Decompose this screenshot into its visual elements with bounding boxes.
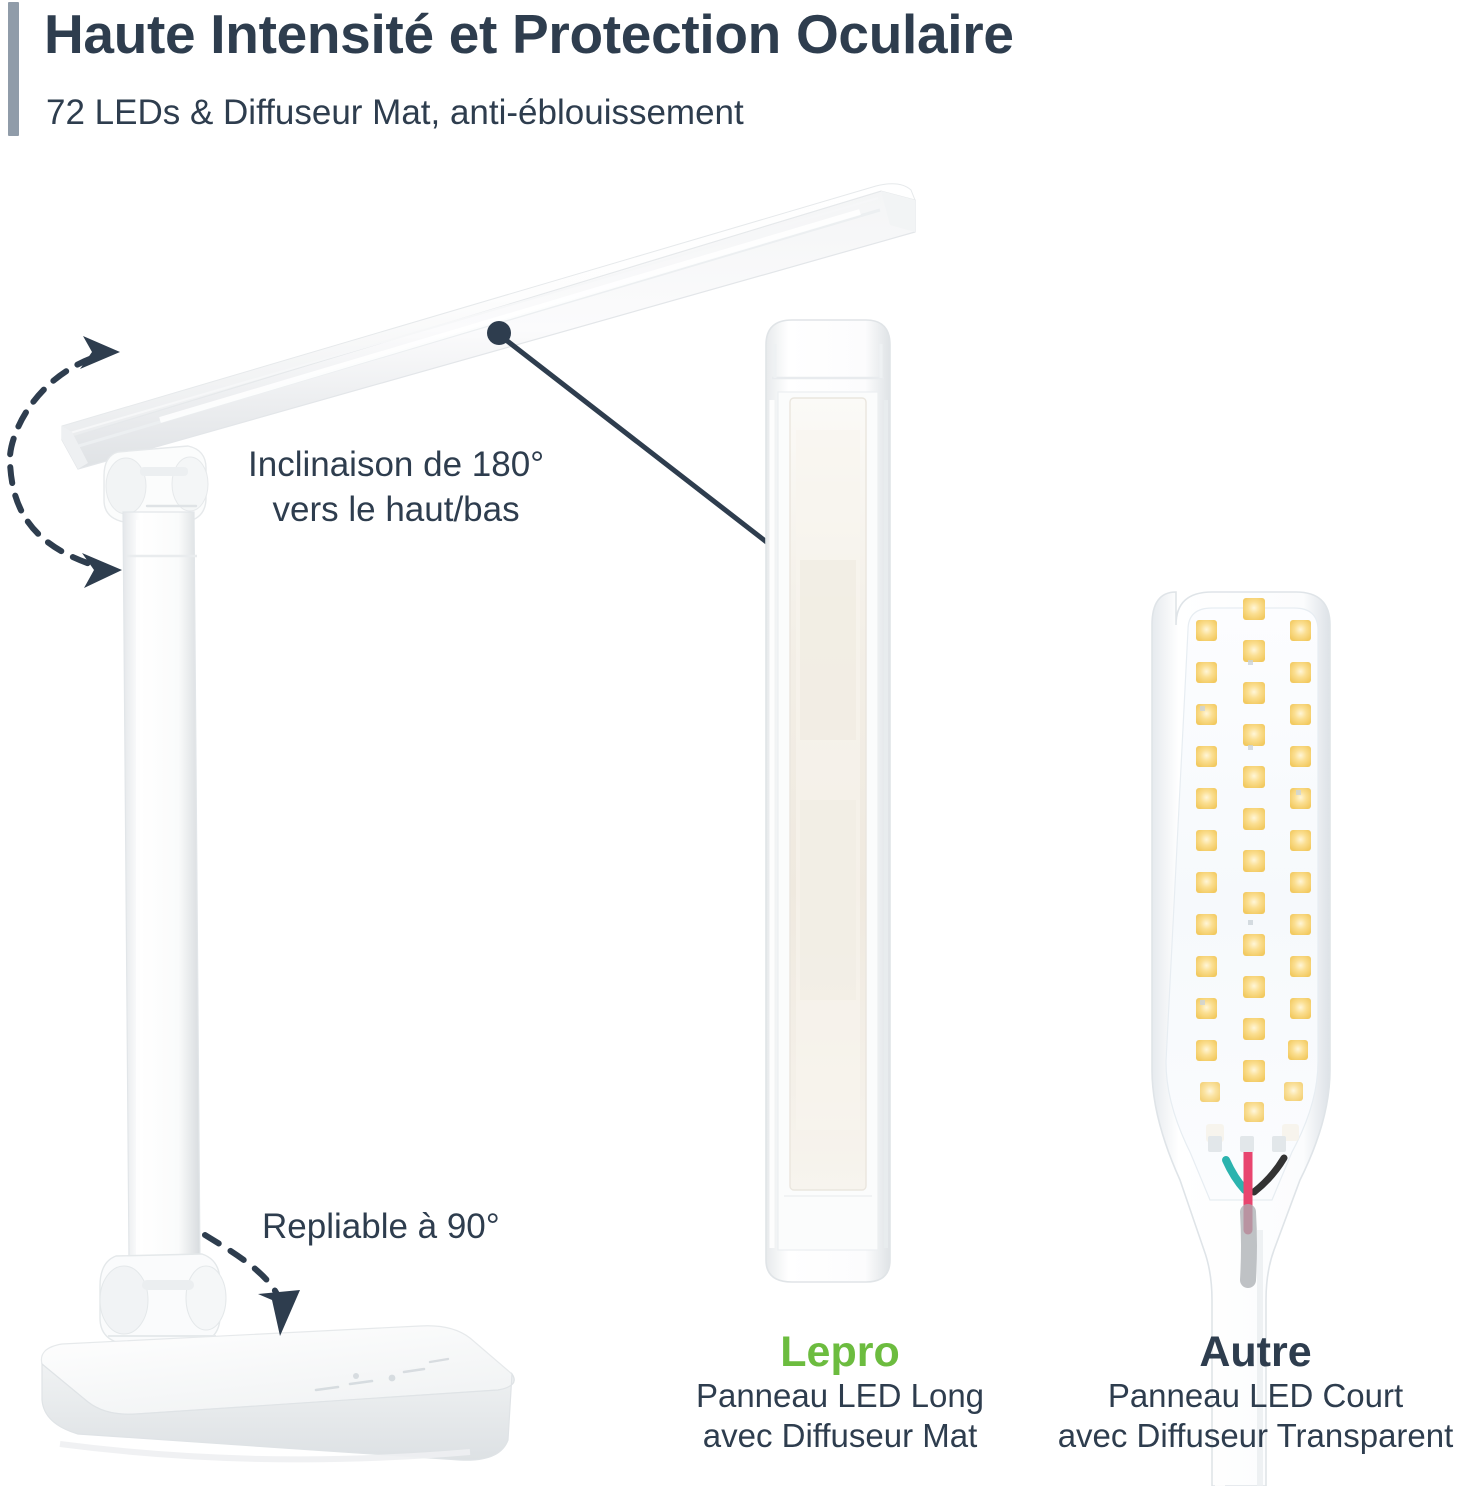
lamp-post (123, 512, 200, 1262)
lamp-base (41, 1326, 514, 1460)
lepro-led-panel (766, 320, 890, 1282)
tilt-annotation: Inclinaison de 180° vers le haut/bas (248, 443, 544, 533)
tilt-rotation-arrow (10, 336, 122, 588)
lower-hinge-joint (100, 1254, 226, 1344)
tilt-annotation-line1: Inclinaison de 180° (248, 443, 544, 488)
desc-lepro-line2: avec Diffuseur Mat (620, 1416, 1060, 1456)
brand-label-other: Autre (1038, 1328, 1473, 1376)
upper-hinge-joint (104, 446, 208, 522)
desc-lepro-line1: Panneau LED Long (620, 1376, 1060, 1416)
brand-label-lepro: Lepro (620, 1328, 1060, 1376)
desc-other-line2: avec Diffuseur Transparent (1038, 1416, 1473, 1456)
caption-other: Autre Panneau LED Court avec Diffuseur T… (1038, 1328, 1473, 1457)
caption-lepro: Lepro Panneau LED Long avec Diffuseur Ma… (620, 1328, 1060, 1457)
tilt-annotation-line2: vers le haut/bas (248, 488, 544, 533)
product-illustration (0, 0, 1473, 1486)
infographic-canvas: Haute Intensité et Protection Oculaire 7… (0, 0, 1473, 1486)
desc-other-line1: Panneau LED Court (1038, 1376, 1473, 1416)
fold-annotation: Repliable à 90° (262, 1205, 500, 1250)
